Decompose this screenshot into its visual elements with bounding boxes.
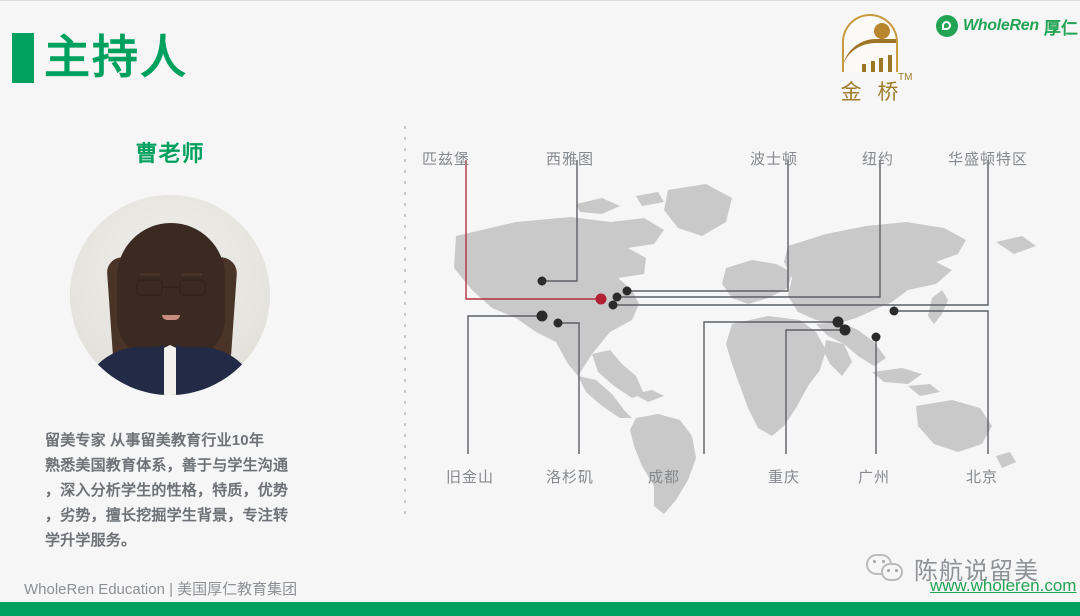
jinqiao-arch-icon xyxy=(842,14,898,72)
website-link[interactable]: www.wholeren.com xyxy=(930,576,1076,596)
city-label-pittsburgh: 匹兹堡 xyxy=(422,148,470,169)
jinqiao-trademark: TM xyxy=(898,72,912,83)
marker-losangeles xyxy=(554,319,563,328)
sun-icon xyxy=(874,23,890,39)
wholeren-logo: WholeRen 厚仁 ® xyxy=(936,12,1080,40)
world-map-panel: 匹兹堡 西雅图 波士顿 纽约 华盛顿特区 旧金山 洛杉矶 成都 重庆 广州 北京 xyxy=(396,118,1080,520)
marker-newyork xyxy=(613,293,622,302)
wholeren-logo-chinese: 厚仁 xyxy=(1044,14,1078,39)
city-label-beijing: 北京 xyxy=(966,466,998,487)
pillar-icons xyxy=(862,52,898,72)
marker-guangzhou xyxy=(872,333,881,342)
city-label-boston: 波士顿 xyxy=(750,148,798,169)
footer-brand-text: WholeRen Education | 美国厚仁教育集团 xyxy=(24,578,297,599)
top-divider xyxy=(0,0,1080,1)
marker-seattle xyxy=(538,277,547,286)
city-label-guangzhou: 广州 xyxy=(858,466,890,487)
marker-boston xyxy=(623,287,632,296)
title-accent-marker xyxy=(12,33,34,83)
city-label-losangeles: 洛杉矶 xyxy=(546,466,594,487)
marker-pittsburgh xyxy=(596,294,607,305)
city-label-newyork: 纽约 xyxy=(862,148,894,169)
connector-sanfrancisco xyxy=(468,316,542,454)
wholeren-logo-latin: WholeRen xyxy=(963,17,1039,35)
city-label-chengdu: 成都 xyxy=(648,466,680,487)
leaf-icon xyxy=(936,15,958,37)
city-label-chongqing: 重庆 xyxy=(768,466,800,487)
footer-accent-bar xyxy=(0,602,1080,616)
city-label-seattle: 西雅图 xyxy=(546,148,594,169)
world-map-svg xyxy=(396,118,1080,520)
avatar xyxy=(70,195,270,395)
marker-sanfrancisco xyxy=(537,311,548,322)
presenter-name: 曹老师 xyxy=(0,136,340,168)
marker-beijing xyxy=(890,307,899,316)
continents xyxy=(454,184,1036,514)
wechat-block[interactable]: 陈航说留美 www.wholeren.com xyxy=(866,548,1070,598)
marker-washington xyxy=(609,301,618,310)
page-title: 主持人 xyxy=(44,26,188,88)
city-label-washington: 华盛顿特区 xyxy=(948,148,1028,169)
wechat-icon xyxy=(866,554,908,584)
slide-root: 主持人 金 桥 TM WholeRen 厚仁 ® 曹老师 xyxy=(0,0,1080,616)
city-label-sanfrancisco: 旧金山 xyxy=(446,466,494,487)
marker-chongqing xyxy=(840,325,851,336)
jinqiao-logo: 金 桥 TM xyxy=(824,14,920,106)
presenter-bio: 留美专家 从事留美教育行业10年熟悉美国教育体系，善于与学生沟通，深入分析学生的… xyxy=(45,428,307,553)
